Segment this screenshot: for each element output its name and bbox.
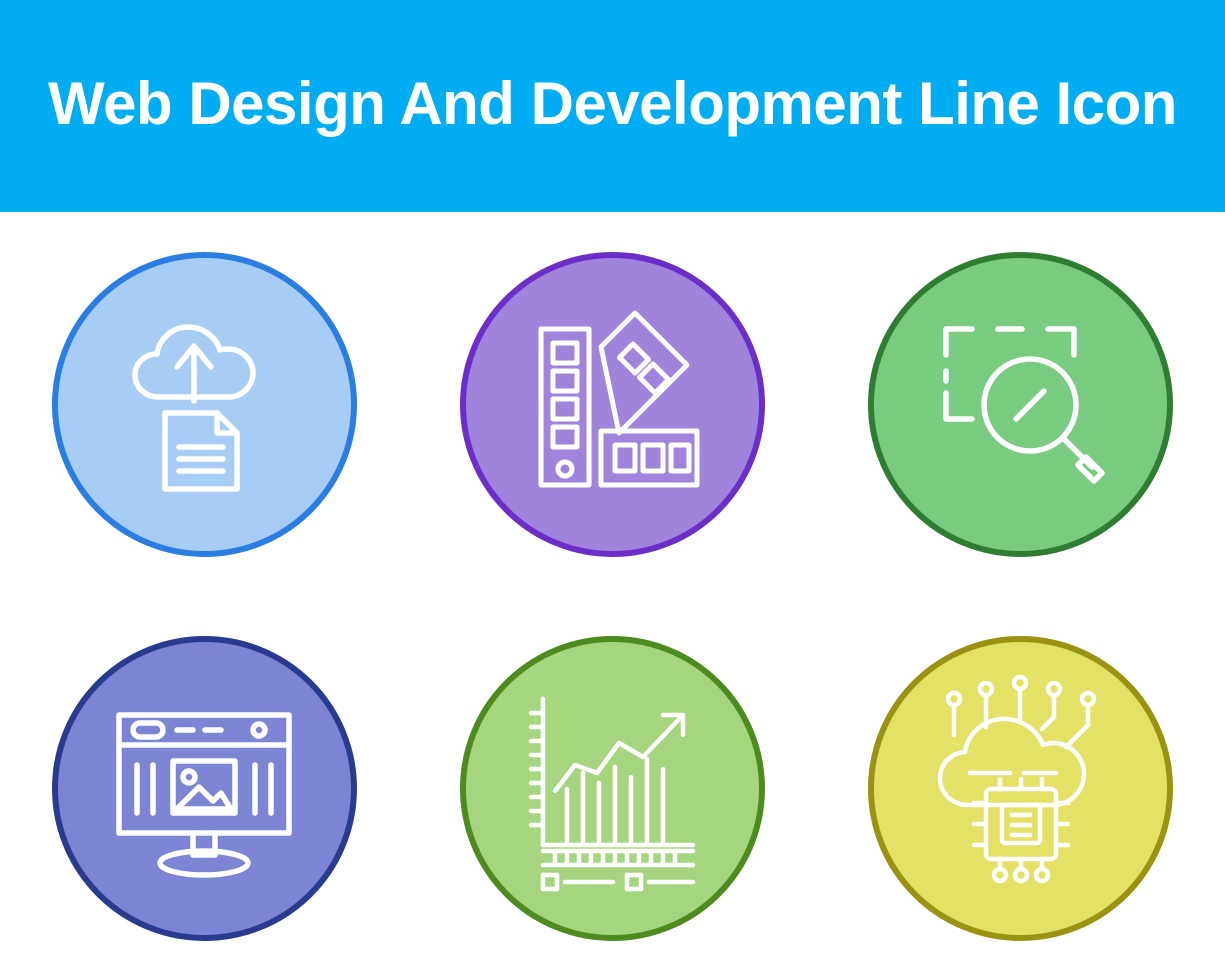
cloud-computing-chip-icon[interactable] xyxy=(868,636,1173,941)
search-inspect-icon[interactable] xyxy=(868,252,1173,557)
icon-cell-cloud-upload-file xyxy=(0,212,408,596)
cloud-upload-file-icon[interactable] xyxy=(52,252,357,557)
monitor-image-icon[interactable] xyxy=(52,636,357,941)
growth-chart-icon[interactable] xyxy=(460,636,765,941)
header-banner: Web Design And Development Line Icon xyxy=(0,0,1225,212)
icon-cell-cloud-computing-chip xyxy=(817,596,1225,980)
icon-cell-growth-chart xyxy=(408,596,816,980)
icon-sheet: Web Design And Development Line Icon xyxy=(0,0,1225,980)
page-title: Web Design And Development Line Icon xyxy=(48,74,1177,134)
color-palette-swatch-icon[interactable] xyxy=(460,252,765,557)
icon-grid xyxy=(0,212,1225,980)
icon-cell-color-palette xyxy=(408,212,816,596)
icon-cell-monitor-image xyxy=(0,596,408,980)
icon-cell-search-inspect xyxy=(817,212,1225,596)
